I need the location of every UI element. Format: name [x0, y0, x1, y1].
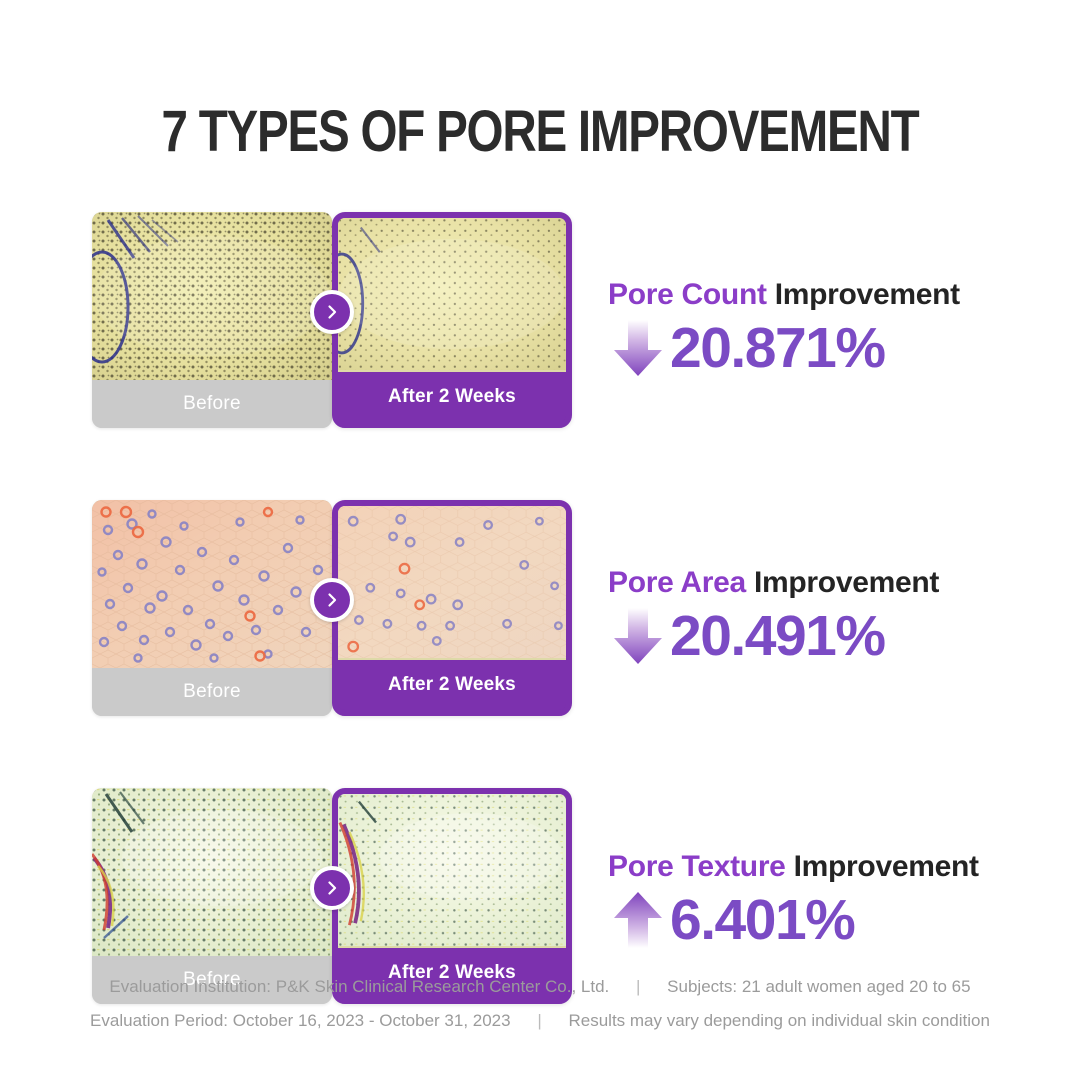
- after-label: After 2 Weeks: [338, 660, 566, 710]
- before-photo: [92, 500, 332, 668]
- stat-block: Pore Area Improvement: [608, 566, 1038, 668]
- chevron-right-icon[interactable]: [310, 578, 354, 622]
- evaluation-period: Evaluation Period: October 16, 2023 - Oc…: [90, 1011, 511, 1030]
- footer-separator: |: [515, 1004, 563, 1038]
- stat-value-row: 20.491%: [608, 604, 1038, 668]
- before-card[interactable]: Before: [92, 500, 332, 716]
- before-after-compare: Before: [92, 500, 572, 716]
- stat-metric-suffix: Improvement: [775, 278, 960, 311]
- after-photo: [338, 794, 566, 954]
- before-label: Before: [92, 668, 332, 716]
- page-title: 7 TYPES OF PORE IMPROVEMENT: [97, 98, 983, 165]
- stat-heading: Pore Texture Improvement: [608, 850, 1038, 884]
- footer-line-1: Evaluation Institution: P&K Skin Clinica…: [0, 970, 1080, 1004]
- before-photo: [92, 212, 332, 380]
- skin-texture-image: [92, 788, 332, 956]
- skin-texture-image: [338, 506, 566, 658]
- arrow-down-icon: [608, 604, 668, 668]
- before-photo: [92, 788, 332, 956]
- after-label: After 2 Weeks: [338, 372, 566, 422]
- stat-value-row: 6.401%: [608, 888, 1038, 952]
- after-card[interactable]: After 2 Weeks: [332, 212, 572, 428]
- skin-texture-image: [92, 500, 332, 668]
- stat-value: 20.491%: [670, 608, 885, 665]
- after-photo: [338, 218, 566, 378]
- infographic-page: 7 TYPES OF PORE IMPROVEMENT: [0, 0, 1080, 1080]
- after-card[interactable]: After 2 Weeks: [332, 500, 572, 716]
- stat-value-row: 20.871%: [608, 316, 1038, 380]
- before-card[interactable]: Before: [92, 212, 332, 428]
- stat-metric-suffix: Improvement: [754, 566, 939, 599]
- skin-texture-image: [338, 218, 566, 370]
- chevron-right-icon[interactable]: [310, 866, 354, 910]
- after-photo: [338, 506, 566, 666]
- stat-block: Pore Texture Improvement: [608, 850, 1038, 952]
- before-after-compare: Before: [92, 212, 572, 428]
- comparison-row: Before: [0, 212, 1080, 460]
- stat-value: 6.401%: [670, 892, 854, 949]
- results-disclaimer: Results may vary depending on individual…: [568, 1011, 989, 1030]
- stat-value: 20.871%: [670, 320, 885, 377]
- footer-line-2: Evaluation Period: October 16, 2023 - Oc…: [0, 1004, 1080, 1038]
- comparison-rows: Before: [0, 212, 1080, 1076]
- stat-heading: Pore Count Improvement: [608, 278, 1038, 312]
- stat-heading: Pore Area Improvement: [608, 566, 1038, 600]
- before-label: Before: [92, 380, 332, 428]
- stat-block: Pore Count Improvement: [608, 278, 1038, 380]
- stat-metric-name: Pore Texture: [608, 850, 786, 883]
- comparison-row: Before: [0, 500, 1080, 748]
- stat-metric-suffix: Improvement: [794, 850, 979, 883]
- skin-texture-image: [338, 794, 566, 946]
- footer-separator: |: [614, 970, 662, 1004]
- stat-metric-name: Pore Area: [608, 566, 746, 599]
- skin-texture-image: [92, 212, 332, 380]
- arrow-up-icon: [608, 888, 668, 952]
- subjects-info: Subjects: 21 adult women aged 20 to 65: [667, 977, 970, 996]
- chevron-right-icon[interactable]: [310, 290, 354, 334]
- evaluation-institution: Evaluation Institution: P&K Skin Clinica…: [109, 977, 609, 996]
- stat-metric-name: Pore Count: [608, 278, 767, 311]
- footer-disclaimer: Evaluation Institution: P&K Skin Clinica…: [0, 970, 1080, 1038]
- arrow-down-icon: [608, 316, 668, 380]
